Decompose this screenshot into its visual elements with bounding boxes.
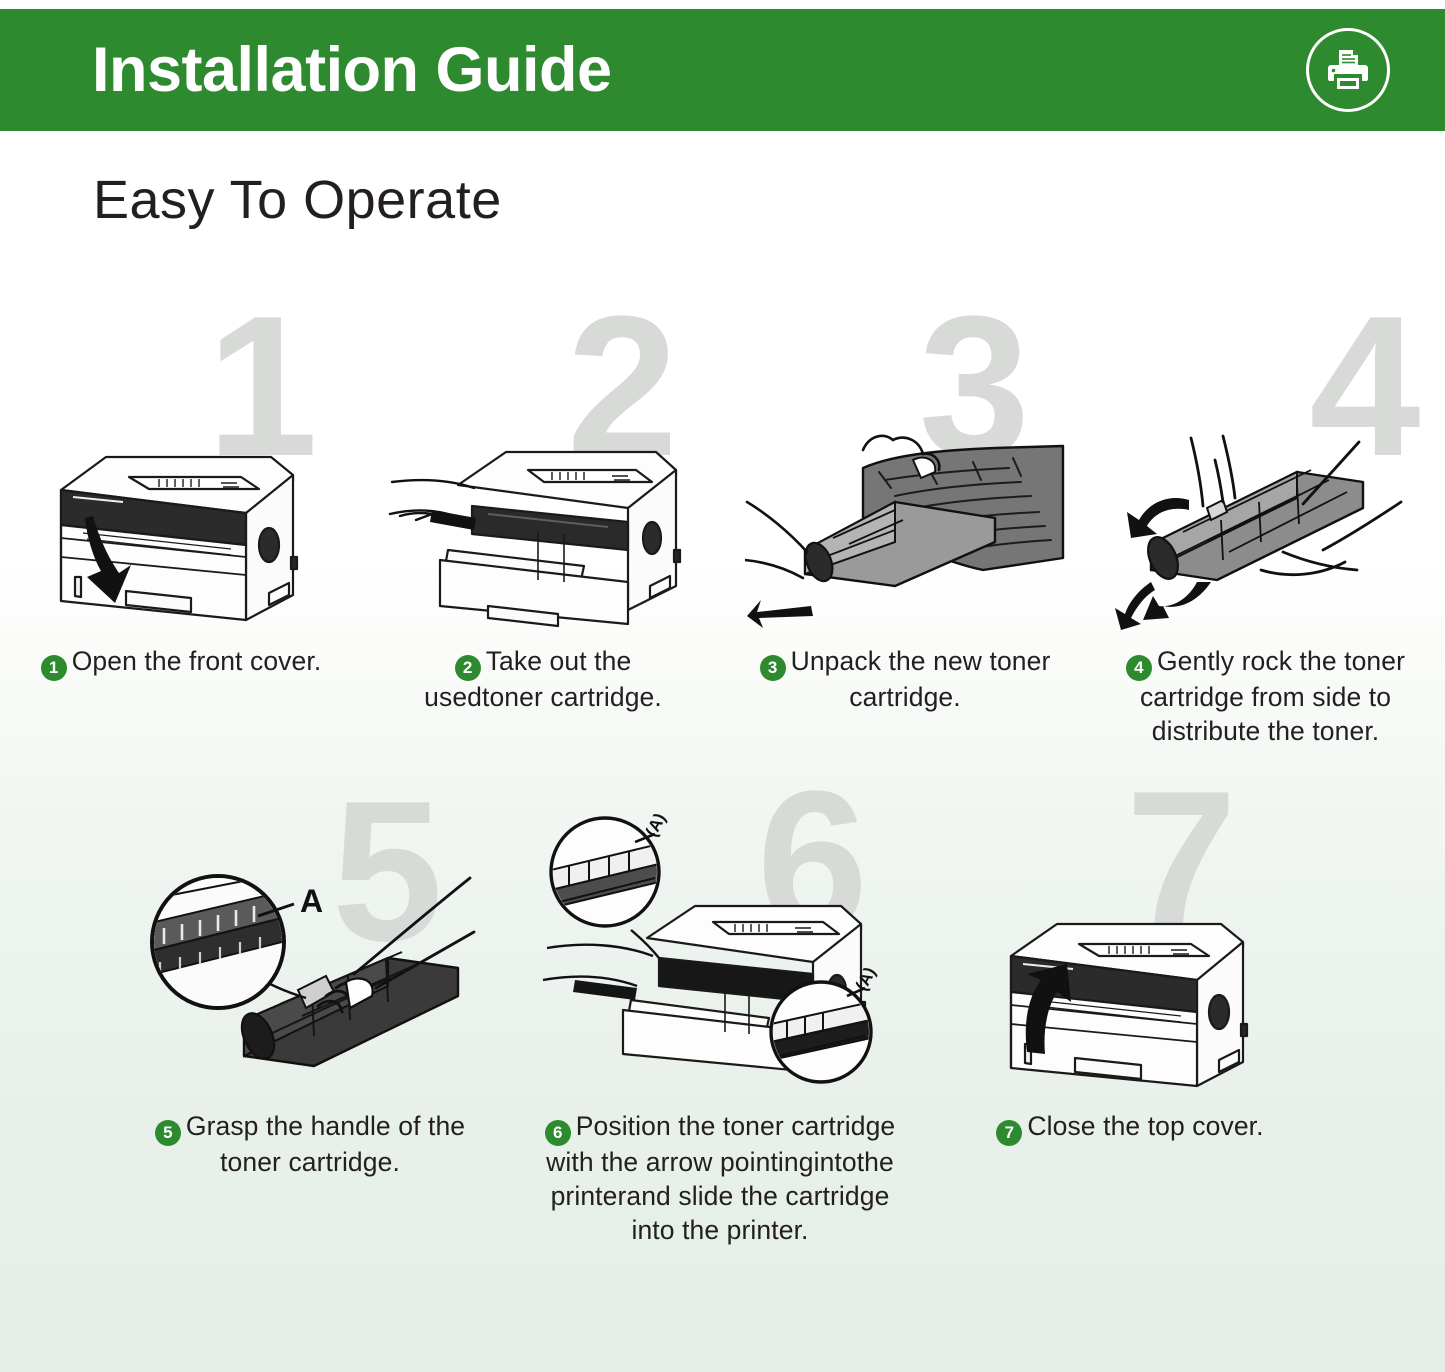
step-7-number-badge: 7 [996,1120,1022,1146]
step-4-number-badge: 4 [1126,655,1152,681]
step-1-number-badge: 1 [41,655,67,681]
step-5-caption-text: Grasp the handle of the toner cartridge. [186,1111,465,1177]
step-5-caption: 5Grasp the handle of the toner cartridge… [145,1110,475,1180]
unpack-cartridge-drawing [745,410,1065,635]
page-header: Installation Guide [0,9,1445,131]
close-cover-drawing [975,870,1285,1100]
step-3-caption-text: Unpack the new toner cartridge. [791,646,1051,712]
step-6-caption-text: Position the toner cartridge with the ar… [546,1111,895,1245]
printer-icon [1306,28,1390,112]
step-2-caption-text: Take out the usedtoner cartridge. [424,646,662,712]
steps-row-top: 1 [0,305,1445,749]
callout-label-a: A [300,883,323,919]
step-2-number-badge: 2 [455,655,481,681]
printer-open-cover-drawing [31,405,331,635]
step-2: 2 [362,305,724,749]
step-6: 6 [510,780,930,1248]
step-1: 1 [0,305,362,749]
step-7: 7 [930,780,1330,1248]
section-subtitle: Easy To Operate [93,171,502,230]
step-7-caption: 7Close the top cover. [965,1110,1295,1146]
step-3: 3 [724,305,1086,749]
step-6-illustration: 6 [520,780,920,1100]
step-6-caption: 6Position the toner cartridge with the a… [535,1110,905,1248]
insert-cartridge-drawing: (A) (A) [535,810,905,1100]
rock-cartridge-drawing [1111,410,1421,635]
installation-guide-page: Installation Guide Easy To Operate [0,0,1445,1372]
step-1-caption: 1Open the front cover. [31,645,331,681]
printer-remove-cartridge-drawing [388,410,698,635]
step-5-number-badge: 5 [155,1120,181,1146]
step-1-illustration: 1 [16,305,346,635]
step-4-caption-text: Gently rock the toner cartridge from sid… [1140,646,1405,746]
steps-row-bottom: 5 [0,780,1445,1248]
step-3-number-badge: 3 [760,655,786,681]
grasp-handle-drawing: A [140,870,480,1100]
step-7-illustration: 7 [945,780,1315,1100]
bottom-row-spacer [0,780,110,1248]
step-3-illustration: 3 [740,305,1070,635]
step-5-illustration: 5 [125,780,495,1100]
step-2-illustration: 2 [378,305,708,635]
step-7-caption-text: Close the top cover. [1027,1111,1263,1141]
step-4: 4 [1086,305,1445,749]
step-3-caption: 3Unpack the new toner cartridge. [755,645,1055,715]
step-6-number-badge: 6 [545,1120,571,1146]
step-2-caption: 2Take out the usedtoner cartridge. [393,645,693,715]
page-title: Installation Guide [92,39,612,102]
step-1-caption-text: Open the front cover. [72,646,322,676]
step-4-illustration: 4 [1101,305,1431,635]
unpack-direction-arrow-icon [747,600,813,628]
step-4-caption: 4Gently rock the toner cartridge from si… [1116,645,1416,749]
step-5: 5 [110,780,510,1248]
